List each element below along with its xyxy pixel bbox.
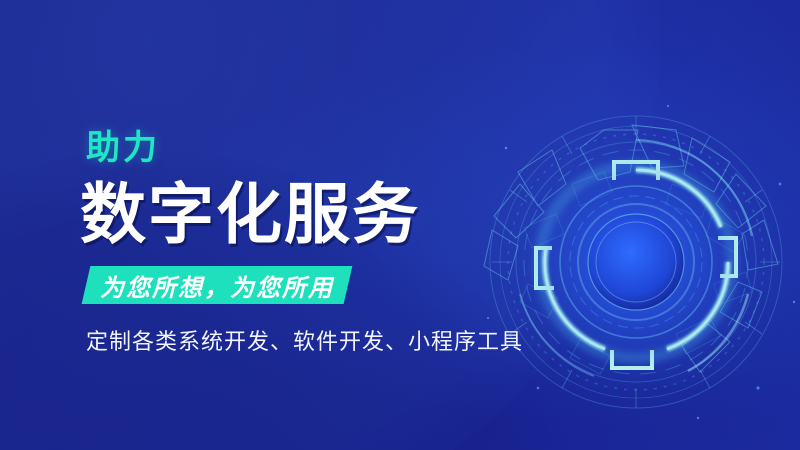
- promo-banner: 助力 数字化服务 为您所想，为您所用 定制各类系统开发、软件开发、小程序工具: [0, 0, 800, 450]
- page-title: 数字化服务: [80, 181, 420, 247]
- tagline-text: 定制各类系统开发、软件开发、小程序工具: [86, 329, 523, 355]
- tech-circle-icon: [462, 88, 800, 436]
- eyebrow-text: 助力: [86, 131, 160, 165]
- ribbon-label: 为您所想，为您所用: [86, 266, 348, 304]
- headline-block: 助力 数字化服务 为您所想，为您所用 定制各类系统开发、软件开发、小程序工具: [0, 0, 470, 450]
